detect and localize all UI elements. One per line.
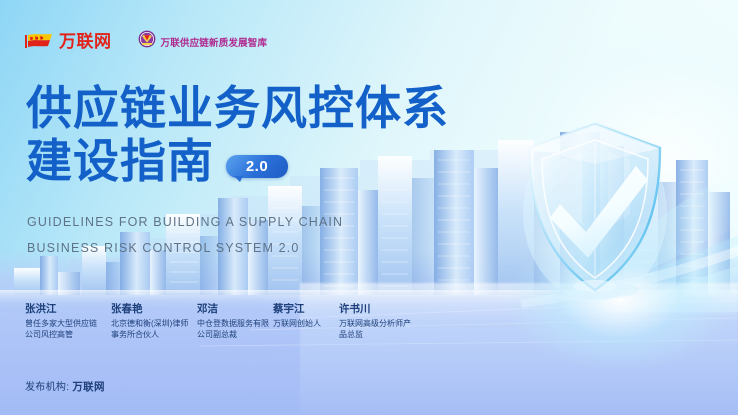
headline-block: 供应链业务风控体系 建设指南 2.0	[26, 82, 506, 188]
logo-wanlian[interactable]: 万联网	[24, 32, 112, 51]
speaker-item: 许书川 万联网高级分析师产品总监	[339, 302, 425, 341]
poster-canvas: 万联网 万联供应链新质发展智库 供应链业务风控体系 建设指南 2.0	[0, 0, 738, 415]
speaker-name: 蔡宇江	[273, 302, 339, 318]
logo-think-tank-label: 万联供应链新质发展智库	[161, 35, 268, 49]
subtitle-line-2: BUSINESS RISK CONTROL SYSTEM 2.0	[27, 236, 343, 262]
publisher-line: 发布机构: 万联网	[25, 378, 105, 394]
version-badge: 2.0	[226, 155, 288, 178]
shield-artwork	[520, 118, 670, 303]
speaker-title: 万联网高级分析师产品总监	[339, 318, 417, 341]
wanlian-flag-logo-icon	[24, 32, 54, 51]
publisher-value: 万联网	[72, 381, 104, 393]
subtitle-block: GUIDELINES FOR BUILDING A SUPPLY CHAIN B…	[27, 210, 343, 261]
speaker-name: 邓洁	[197, 302, 273, 318]
logo-wanlian-label: 万联网	[59, 33, 112, 50]
headline-line-2-wrap: 建设指南 2.0	[26, 135, 506, 188]
headline-line-1: 供应链业务风控体系	[26, 82, 506, 135]
speaker-title: 曾任多家大型供应链公司风控高管	[25, 318, 103, 341]
speaker-item: 张春艳 北京德和衡(深圳)律师事务所合伙人	[111, 302, 197, 341]
publisher-label: 发布机构:	[25, 382, 69, 393]
speaker-name: 许书川	[339, 302, 425, 318]
shield-with-checkmark-icon	[520, 118, 670, 303]
speaker-item: 张洪江 曾任多家大型供应链公司风控高管	[25, 302, 111, 341]
speaker-title: 中仓登数据服务有限公司副总裁	[197, 318, 275, 341]
speaker-name: 张洪江	[25, 302, 111, 318]
speaker-name: 张春艳	[111, 302, 197, 318]
speaker-list: 张洪江 曾任多家大型供应链公司风控高管 张春艳 北京德和衡(深圳)律师事务所合伙…	[25, 302, 425, 341]
headline-line-2: 建设指南	[26, 135, 214, 188]
subtitle-line-1: GUIDELINES FOR BUILDING A SUPPLY CHAIN	[27, 210, 343, 236]
logo-think-tank[interactable]: 万联供应链新质发展智库	[138, 30, 268, 53]
logo-row: 万联网 万联供应链新质发展智库	[24, 30, 267, 53]
speaker-item: 邓洁 中仓登数据服务有限公司副总裁	[197, 302, 273, 341]
think-tank-seal-logo-icon	[138, 30, 156, 53]
speaker-title: 北京德和衡(深圳)律师事务所合伙人	[111, 318, 189, 341]
speaker-item: 蔡宇江 万联网创始人	[273, 302, 339, 341]
